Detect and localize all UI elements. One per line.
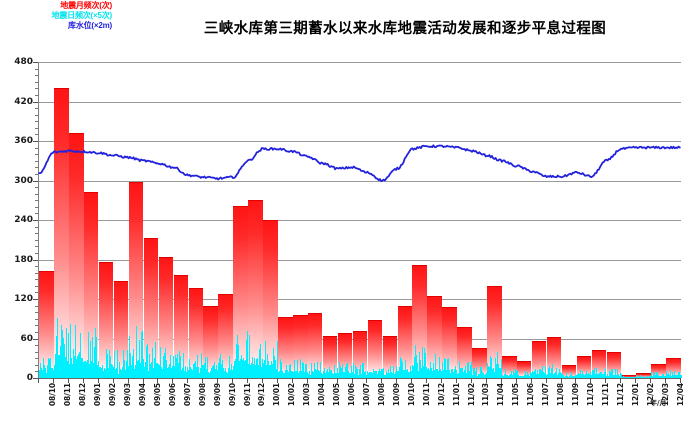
- x-axis-tick-label: 09/06: [168, 383, 177, 406]
- gridline: [39, 62, 681, 63]
- y-axis-tick-label: 240: [0, 215, 33, 225]
- y-axis-tick-label: 180: [0, 255, 33, 265]
- gridline: [39, 141, 681, 142]
- y-axis-tick-label: 120: [0, 294, 33, 304]
- reservoir-level-path: [39, 145, 680, 181]
- x-axis-tick-label: 11/04: [496, 383, 505, 406]
- x-axis-tick-label: 09/04: [138, 383, 147, 406]
- x-axis-tick-label: 10/06: [347, 383, 356, 406]
- x-axis-tick-label: 11/08: [556, 383, 565, 406]
- x-axis-tick-label: 12/01: [631, 383, 640, 406]
- x-axis-labels: 08/1008/1108/1209/0109/0209/0309/0409/05…: [38, 383, 680, 423]
- y-axis-tick-label: 0: [0, 373, 33, 383]
- x-axis-tick-label: 08/11: [63, 383, 72, 406]
- x-axis-tick-label: 11/11: [601, 383, 610, 406]
- x-axis-tick-label: 09/10: [228, 383, 237, 406]
- x-axis-tick-label: 09/02: [108, 383, 117, 406]
- x-axis-tick-label: 11/07: [541, 383, 550, 406]
- plot-area: [38, 62, 681, 378]
- y-axis-tick-label: 480: [0, 57, 33, 67]
- x-axis-tick-label: 12/04: [676, 383, 685, 406]
- x-axis-tick-label: 10/05: [332, 383, 341, 406]
- x-axis-tick-label: 09/03: [123, 383, 132, 406]
- legend-item-reservoir-level: 库水位(×2m): [8, 21, 112, 31]
- chart-container: 地震月频次(次) 地震日频次(×5次) 库水位(×2m) 三峡水库第三期蓄水以来…: [0, 0, 699, 428]
- x-axis-tick-label: 09/12: [257, 383, 266, 406]
- y-axis-tick-label: 420: [0, 97, 33, 107]
- x-axis-tick-label: 10/02: [287, 383, 296, 406]
- y-axis-tick-label: 60: [0, 334, 33, 344]
- y-axis-tick-label: 300: [0, 176, 33, 186]
- x-axis-tick-label: 11/05: [511, 383, 520, 406]
- x-axis-tick-label: 11/02: [467, 383, 476, 406]
- gridline: [39, 102, 681, 103]
- x-axis-tick-label: 09/01: [93, 383, 102, 406]
- chart-legend: 地震月频次(次) 地震日频次(×5次) 库水位(×2m): [8, 1, 112, 31]
- x-axis-tick-label: 09/07: [183, 383, 192, 406]
- x-axis-tick-label: 11/03: [481, 383, 490, 406]
- legend-item-monthly-frequency: 地震月频次(次): [8, 1, 112, 11]
- x-axis-tick-label: 11/10: [586, 383, 595, 406]
- x-axis-tick-label: 10/03: [302, 383, 311, 406]
- x-axis-tick-label: 08/10: [48, 383, 57, 406]
- y-axis-tick-label: 360: [0, 136, 33, 146]
- x-axis-tick-label: 09/08: [198, 383, 207, 406]
- legend-item-daily-frequency: 地震日频次(×5次): [8, 11, 112, 21]
- x-axis-tick-label: 11/12: [616, 383, 625, 406]
- x-axis-tick-label: 09/09: [213, 383, 222, 406]
- x-axis-tick-label: 10/07: [362, 383, 371, 406]
- x-axis-tick-label: 10/12: [437, 383, 446, 406]
- x-axis-tick-label: 10/08: [377, 383, 386, 406]
- monthly-frequency-bar: [39, 271, 53, 378]
- x-axis-tick-label: 09/11: [243, 383, 252, 406]
- x-axis-tick-label: 11/09: [571, 383, 580, 406]
- chart-title: 三峡水库第三期蓄水以来水库地震活动发展和逐步平息过程图: [120, 17, 690, 38]
- x-axis-tick-label: 11/06: [526, 383, 535, 406]
- x-axis-tick-label: 10/01: [272, 383, 281, 406]
- plot-inner: [39, 62, 681, 378]
- x-axis-tick-label: 10/10: [407, 383, 416, 406]
- x-axis-tick-label: 10/04: [317, 383, 326, 406]
- x-axis-tick-label: 10/09: [392, 383, 401, 406]
- x-axis-tick-label: 11/01: [452, 383, 461, 406]
- x-axis-tick-label: 10/11: [422, 383, 431, 406]
- x-axis-tick-label: 09/05: [153, 383, 162, 406]
- x-axis-title: 年/月: [650, 398, 667, 408]
- x-axis-tick-label: 08/12: [78, 383, 87, 406]
